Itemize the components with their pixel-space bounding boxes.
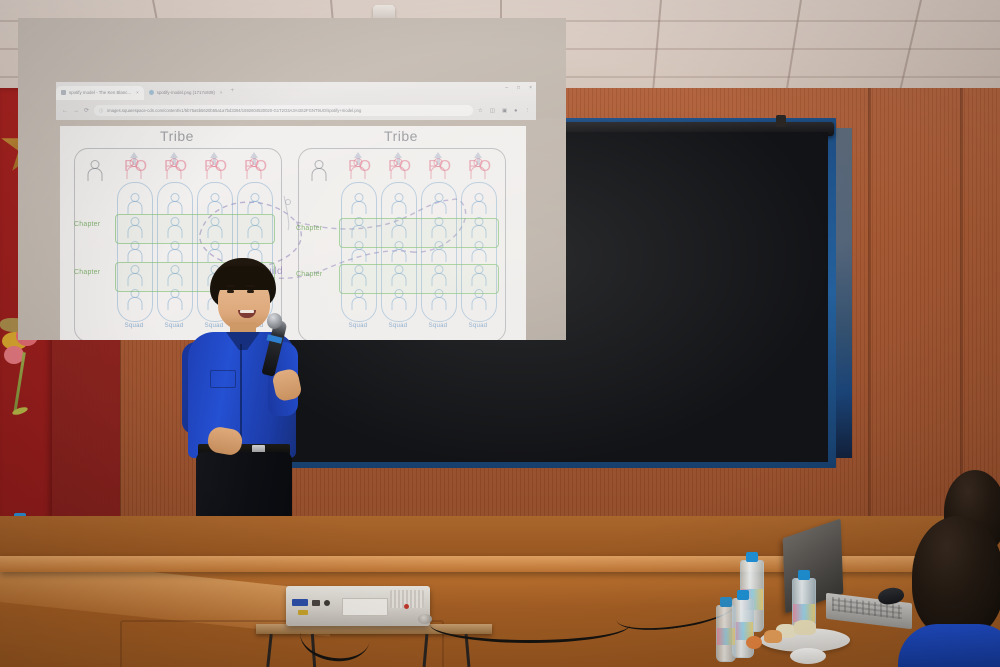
menu-icon[interactable]: ⋮ <box>525 108 531 114</box>
back-icon[interactable]: ← <box>62 108 68 114</box>
browser-tab-2[interactable]: spotify-model.png (1717x939) × <box>144 86 228 100</box>
omnibar-actions: ☆ ◫ ▣ ● ⋮ <box>478 108 530 114</box>
fruit-slice <box>794 620 816 635</box>
address-bar[interactable]: ⓘ images.squarespace-cdn.com/content/v1/… <box>94 105 473 116</box>
browser-tab-2-title: spotify-model.png (1717x939) <box>157 90 215 95</box>
reload-icon[interactable]: ⟳ <box>84 107 89 114</box>
water-bottle <box>716 605 736 662</box>
squad-label: Squad <box>421 322 455 329</box>
window-controls: – □ × <box>505 85 532 91</box>
squad-group <box>381 182 417 322</box>
browser-tab-1[interactable]: spotify model - The Ken Blanc... × <box>56 86 144 100</box>
forward-icon[interactable]: → <box>73 108 79 114</box>
table-lip <box>0 556 1000 572</box>
close-window-icon[interactable]: × <box>529 85 532 91</box>
projector-label <box>342 598 388 616</box>
squad-group <box>117 182 153 322</box>
maximize-icon[interactable]: □ <box>517 85 520 91</box>
squad-label: Squad <box>381 322 415 329</box>
tribe-title: Tribe <box>292 128 510 144</box>
image-icon <box>149 90 154 95</box>
squad-group <box>341 182 377 322</box>
chapter-box <box>115 214 275 244</box>
attendee-head <box>912 516 1000 638</box>
minimize-icon[interactable]: – <box>505 85 508 91</box>
squad-group <box>421 182 457 322</box>
page-icon <box>61 90 66 95</box>
squad-group <box>461 182 497 322</box>
split-screen-icon[interactable]: ◫ <box>490 108 495 114</box>
small-dish <box>790 648 826 664</box>
close-icon[interactable]: × <box>136 90 139 95</box>
new-tab-button[interactable]: + <box>231 88 235 94</box>
presenter-fringe <box>212 266 274 290</box>
chapter-label: Chapter <box>296 225 322 232</box>
photo-scene: spotify model - The Ken Blanc... × spoti… <box>0 0 1000 667</box>
address-bar-url: images.squarespace-cdn.com/content/v1/5b… <box>107 108 361 113</box>
presenter <box>182 258 304 558</box>
star-icon[interactable]: ☆ <box>478 108 483 114</box>
browser-window: spotify model - The Ken Blanc... × spoti… <box>56 82 536 120</box>
tribe-right: Tribe PO PO PO <box>292 126 510 340</box>
chapter-label: Chapter <box>74 221 100 228</box>
squad-label: Squad <box>461 322 495 329</box>
squad-label: Squad <box>341 322 375 329</box>
fruit-slice <box>764 630 782 643</box>
chapter-box <box>339 264 499 294</box>
browser-tabstrip: spotify model - The Ken Blanc... × spoti… <box>56 82 536 100</box>
tribe-lead-icon <box>86 160 104 182</box>
tribe-lead-icon <box>310 160 328 182</box>
browser-omnibar: ← → ⟳ ⓘ images.squarespace-cdn.com/conte… <box>56 101 536 120</box>
fruit-slice <box>746 636 762 649</box>
extensions-icon[interactable]: ▣ <box>502 108 507 114</box>
chapter-box <box>339 218 499 248</box>
tribe-title: Tribe <box>68 128 286 144</box>
vga-port <box>292 599 308 606</box>
chapter-label: Chapter <box>74 269 100 276</box>
close-icon[interactable]: × <box>220 90 223 95</box>
squad-label: Squad <box>117 322 151 329</box>
browser-tab-1-title: spotify model - The Ken Blanc... <box>69 90 131 95</box>
profile-icon[interactable]: ● <box>514 108 517 114</box>
page-info-icon[interactable]: ⓘ <box>99 108 103 114</box>
